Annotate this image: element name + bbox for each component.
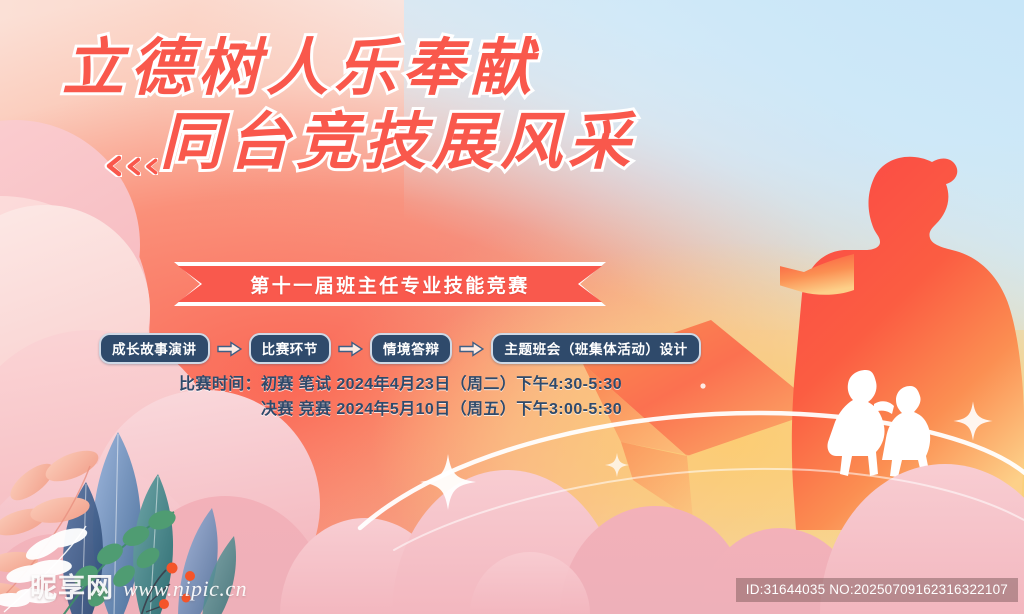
- schedule-line-1: 比赛时间：初赛 笔试 2024年4月23日（周二）下午4:30-5:30: [0, 372, 622, 397]
- sparkle-icon: [418, 452, 478, 512]
- poster-canvas: 立德树人乐奉献 同台竞技展风采 第十一届班主任专业技能竞赛 成长故事演讲 比赛环…: [0, 0, 1024, 614]
- flow-step-2[interactable]: 比赛环节: [249, 333, 331, 364]
- process-flow: 成长故事演讲 比赛环节 情境答辩 主题班会（班集体活动）设计: [99, 333, 701, 364]
- flow-step-4[interactable]: 主题班会（班集体活动）设计: [491, 333, 700, 364]
- schedule-block: 比赛时间：初赛 笔试 2024年4月23日（周二）下午4:30-5:30 决赛 …: [0, 372, 640, 422]
- triple-chevron-left-icon: [104, 155, 158, 177]
- flow-step-1[interactable]: 成长故事演讲: [99, 333, 210, 364]
- ribbon-title: 第十一届班主任专业技能竞赛: [178, 266, 602, 302]
- headline-line-1: 立德树人乐奉献: [0, 32, 760, 106]
- two-children-silhouette: [822, 356, 952, 486]
- arrow-right-icon: [459, 341, 484, 357]
- asset-id-label: ID:31644035 NO:20250709162316322107: [736, 578, 1018, 602]
- schedule-line-2: 决赛 竞赛 2024年5月10日（周五）下午3:00-5:30: [0, 397, 622, 422]
- arrow-right-icon: [338, 341, 363, 357]
- arrow-right-icon: [217, 341, 242, 357]
- flow-step-3[interactable]: 情境答辩: [370, 333, 452, 364]
